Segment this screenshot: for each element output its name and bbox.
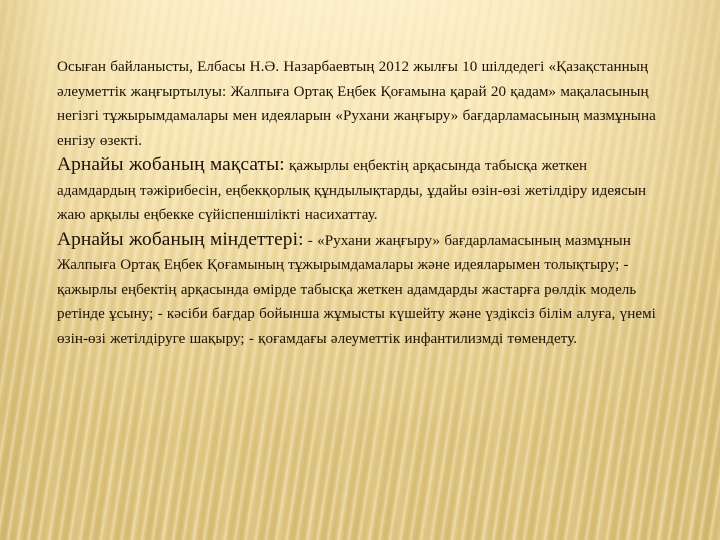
paragraph-intro-text: Осыған байланысты, Елбасы Н.Ә. Назарбаев… <box>57 59 656 149</box>
paragraph-project-goal: Арнайы жобаның мақсаты: қажырлы еңбектің… <box>57 153 657 228</box>
paragraph-intro: Осыған байланысты, Елбасы Н.Ә. Назарбаев… <box>57 55 657 153</box>
paragraph-project-tasks: Арнайы жобаның міндеттері: - «Рухани жаң… <box>57 228 657 352</box>
heading-project-tasks: Арнайы жобаның міндеттері: <box>57 229 304 250</box>
slide-canvas: Осыған байланысты, Елбасы Н.Ә. Назарбаев… <box>0 0 720 540</box>
slide-body-text: Осыған байланысты, Елбасы Н.Ә. Назарбаев… <box>57 55 657 352</box>
heading-project-goal: Арнайы жобаның мақсаты: <box>57 154 285 175</box>
